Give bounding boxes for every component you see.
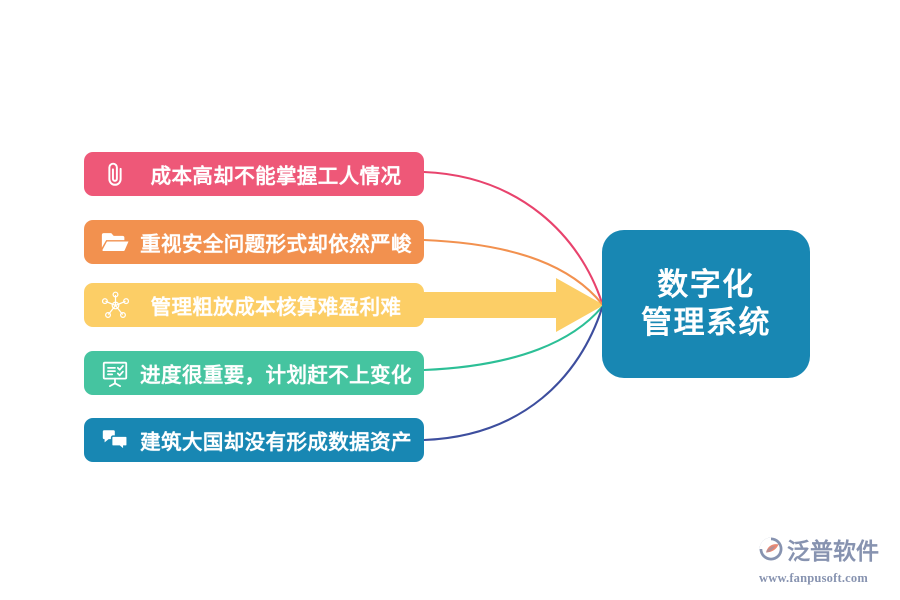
problem-bar-label: 建筑大国却没有形成数据资产 bbox=[138, 425, 424, 455]
problem-bar-label: 管理粗放成本核算难盈利难 bbox=[138, 290, 424, 320]
network-hub-icon bbox=[98, 288, 132, 322]
brand-logo-row: 泛普软件 bbox=[758, 536, 879, 567]
problem-bar-safety[interactable]: 重视安全问题形式却依然严峻 bbox=[84, 220, 424, 264]
connector-curve-data-asset bbox=[424, 308, 602, 440]
connector-arrow-cost-accounting bbox=[424, 278, 604, 332]
connector-curve-schedule bbox=[424, 307, 602, 370]
presentation-board-icon bbox=[98, 356, 132, 390]
problem-bar-label: 成本高却不能掌握工人情况 bbox=[138, 159, 424, 189]
center-node-digital-management-system[interactable]: 数字化 管理系统 bbox=[602, 230, 810, 378]
problem-bar-label: 重视安全问题形式却依然严峻 bbox=[138, 227, 424, 257]
center-node-line-2: 管理系统 bbox=[641, 304, 771, 342]
problem-bar-label: 进度很重要，计划赶不上变化 bbox=[138, 358, 424, 388]
chat-bubbles-icon bbox=[98, 423, 132, 457]
folder-open-icon bbox=[98, 225, 132, 259]
brand-watermark: 泛普软件 www.fanpusoft.com bbox=[758, 534, 890, 588]
brand-url: www.fanpusoft.com bbox=[759, 571, 868, 586]
connector-curve-safety bbox=[424, 240, 602, 304]
problem-bar-schedule[interactable]: 进度很重要，计划赶不上变化 bbox=[84, 351, 424, 395]
brand-name: 泛普软件 bbox=[787, 540, 879, 563]
connector-curve-labor-cost bbox=[424, 172, 602, 303]
problem-bar-data-asset[interactable]: 建筑大国却没有形成数据资产 bbox=[84, 418, 424, 462]
problem-bar-cost-accounting[interactable]: 管理粗放成本核算难盈利难 bbox=[84, 283, 424, 327]
diagram-canvas: 成本高却不能掌握工人情况 重视安全问题形式却依然严峻 bbox=[0, 0, 900, 600]
paperclip-icon bbox=[98, 157, 132, 191]
fanpu-swirl-logo-icon bbox=[758, 536, 784, 567]
center-node-line-1: 数字化 bbox=[657, 266, 755, 304]
problem-bar-labor-cost[interactable]: 成本高却不能掌握工人情况 bbox=[84, 152, 424, 196]
